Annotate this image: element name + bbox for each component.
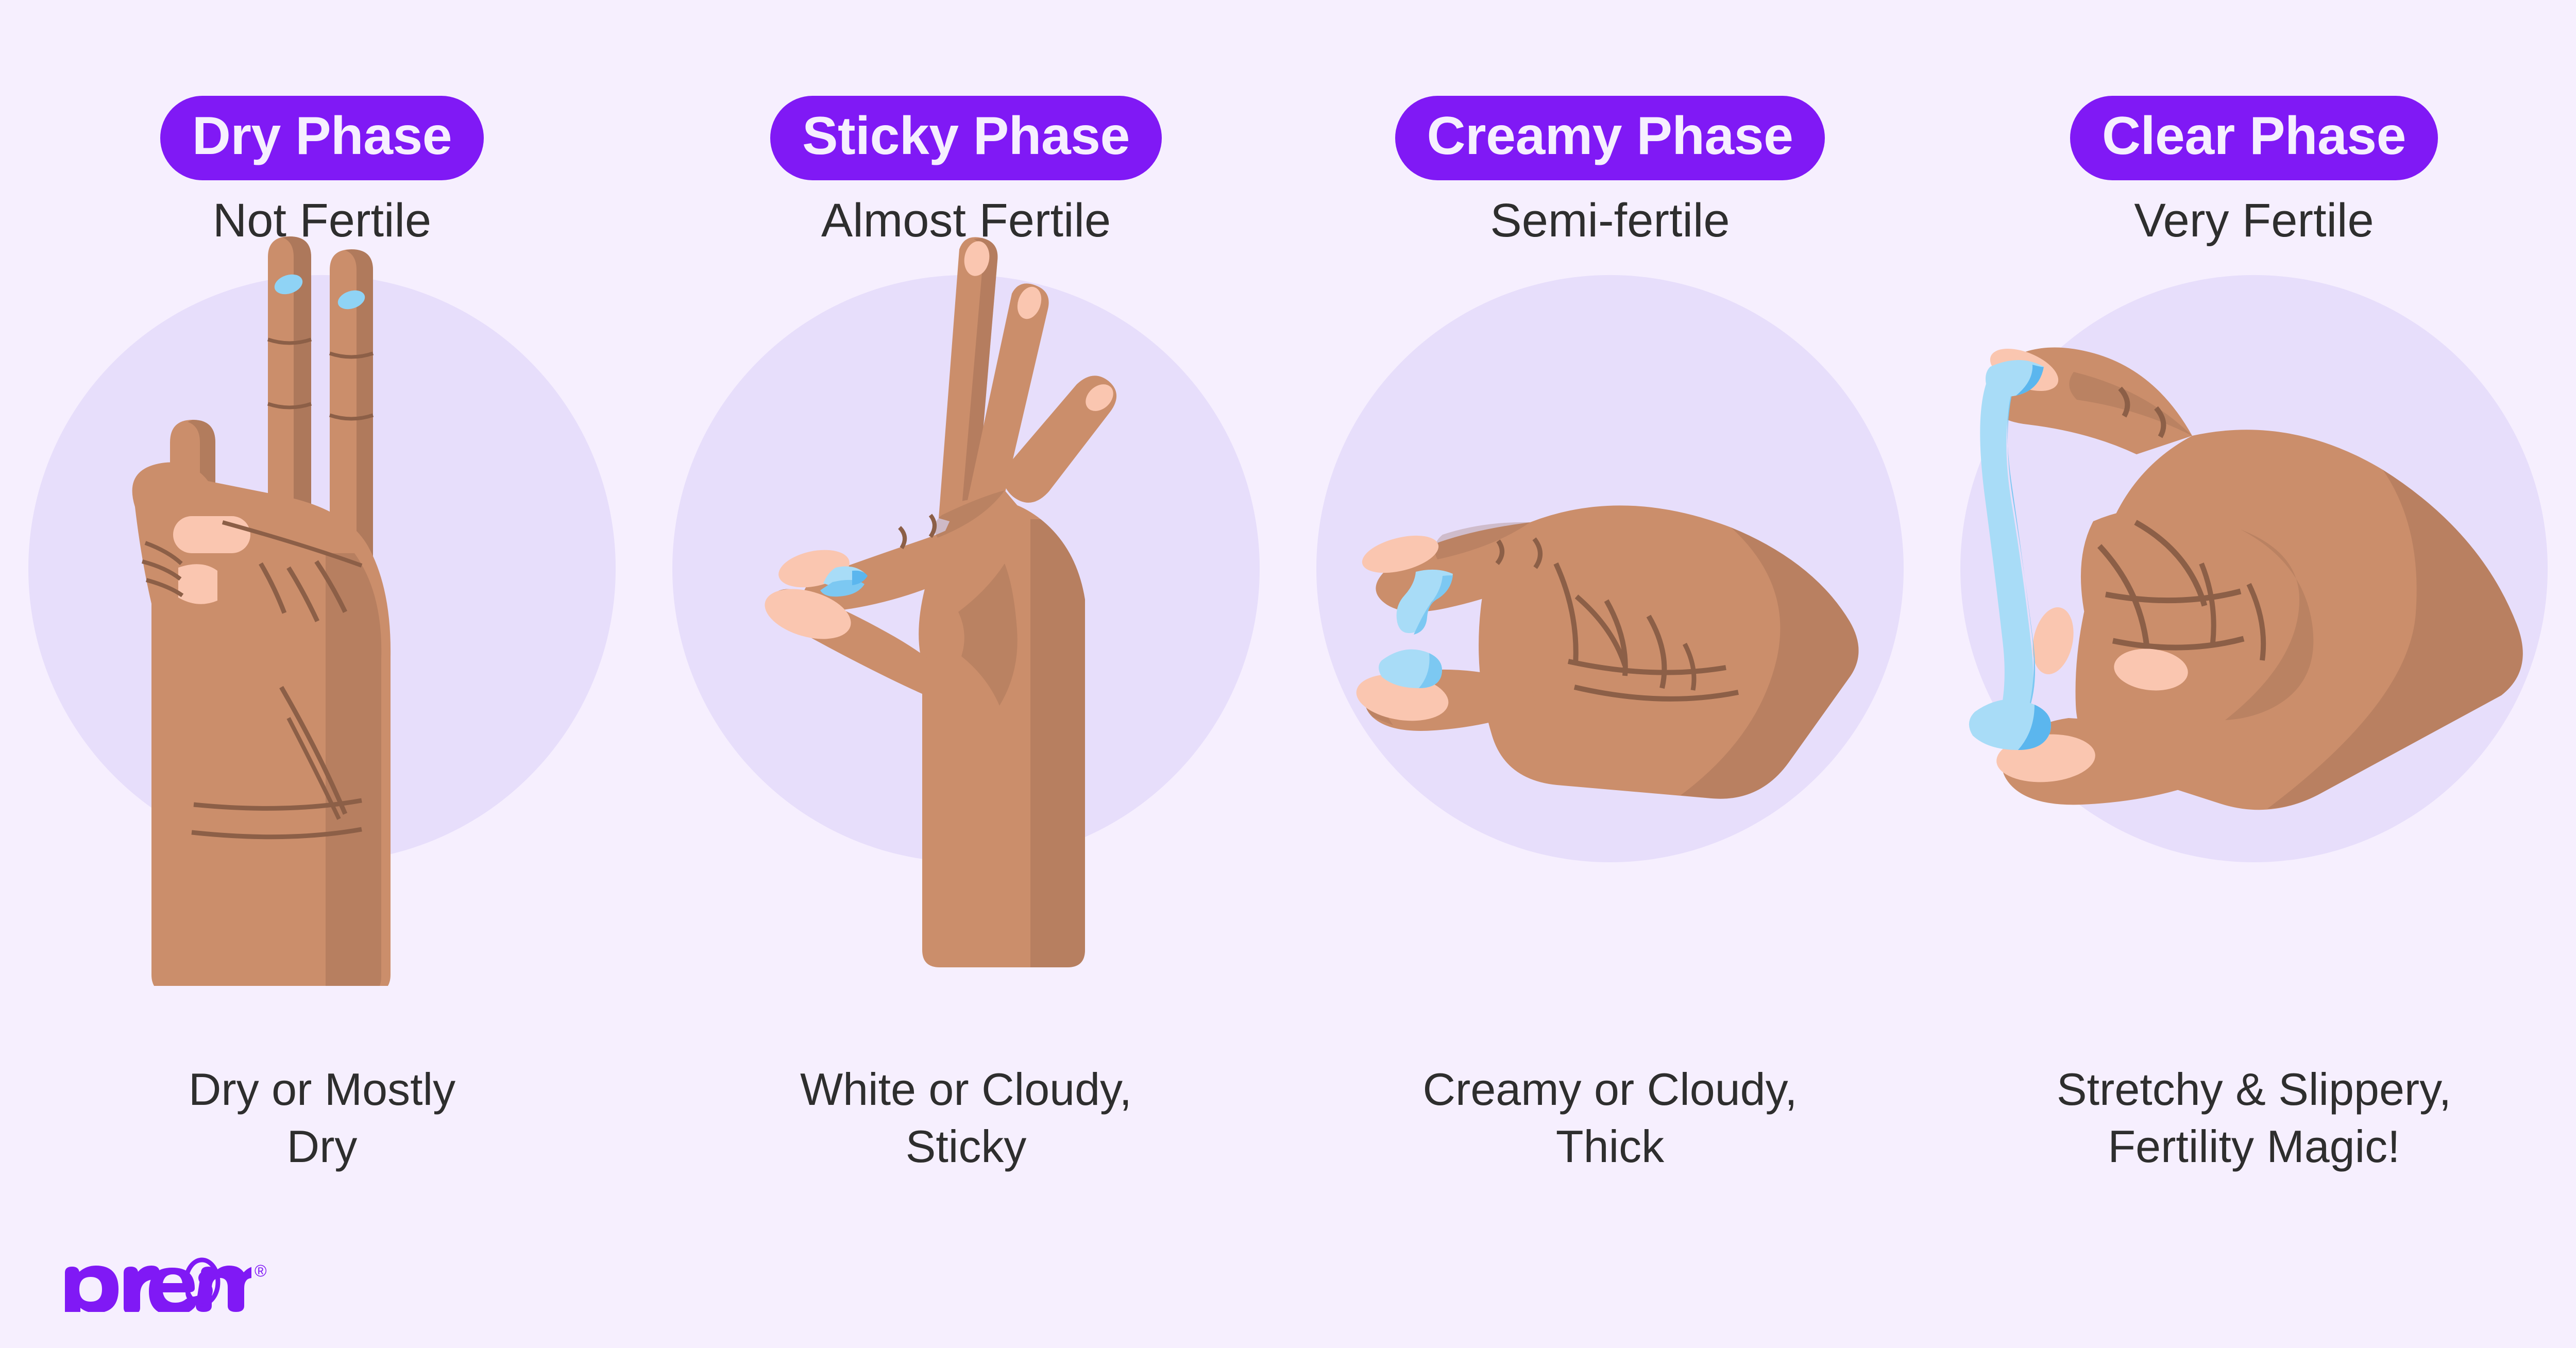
phase-description-creamy: Creamy or Cloudy, Thick [1288,1061,1932,1175]
description-line: Dry or Mostly [21,1061,623,1118]
phase-description-sticky: White or Cloudy, Sticky [644,1061,1288,1175]
description-line: Sticky [665,1118,1267,1175]
infographic-canvas: Dry Phase Not Fertile [0,0,2576,1348]
phase-column-creamy: Creamy Phase Semi-fertile [1288,0,1932,1205]
phase-description-dry: Dry or Mostly Dry [0,1061,644,1175]
phase-badge-creamy[interactable]: Creamy Phase [1395,96,1825,180]
premom-logo[interactable]: ® [61,1255,267,1317]
phase-badge-clear[interactable]: Clear Phase [2070,96,2438,180]
phase-description-clear: Stretchy & Slippery, Fertility Magic! [1932,1061,2576,1175]
phase-columns: Dry Phase Not Fertile [0,0,2576,1205]
description-line: Dry [21,1118,623,1175]
description-line: Thick [1309,1118,1911,1175]
description-line: White or Cloudy, [665,1061,1267,1118]
hand-ok-pinch-icon [644,234,1288,986]
description-line: Fertility Magic! [1953,1118,2555,1175]
phase-column-sticky: Sticky Phase Almost Fertile [644,0,1288,1205]
premom-baby-logo-icon [61,1255,251,1312]
hand-stretch-string-icon [1914,234,2576,986]
hand-pinch-drip-icon [1288,234,1932,986]
phase-badge-dry[interactable]: Dry Phase [160,96,484,180]
phase-column-clear: Clear Phase Very Fertile [1932,0,2576,1205]
phase-column-dry: Dry Phase Not Fertile [0,0,644,1205]
description-line: Creamy or Cloudy, [1309,1061,1911,1118]
description-line: Stretchy & Slippery, [1953,1061,2555,1118]
registered-trademark-mark: ® [255,1262,267,1279]
hand-two-fingers-up-icon [0,234,644,986]
phase-badge-sticky[interactable]: Sticky Phase [770,96,1162,180]
